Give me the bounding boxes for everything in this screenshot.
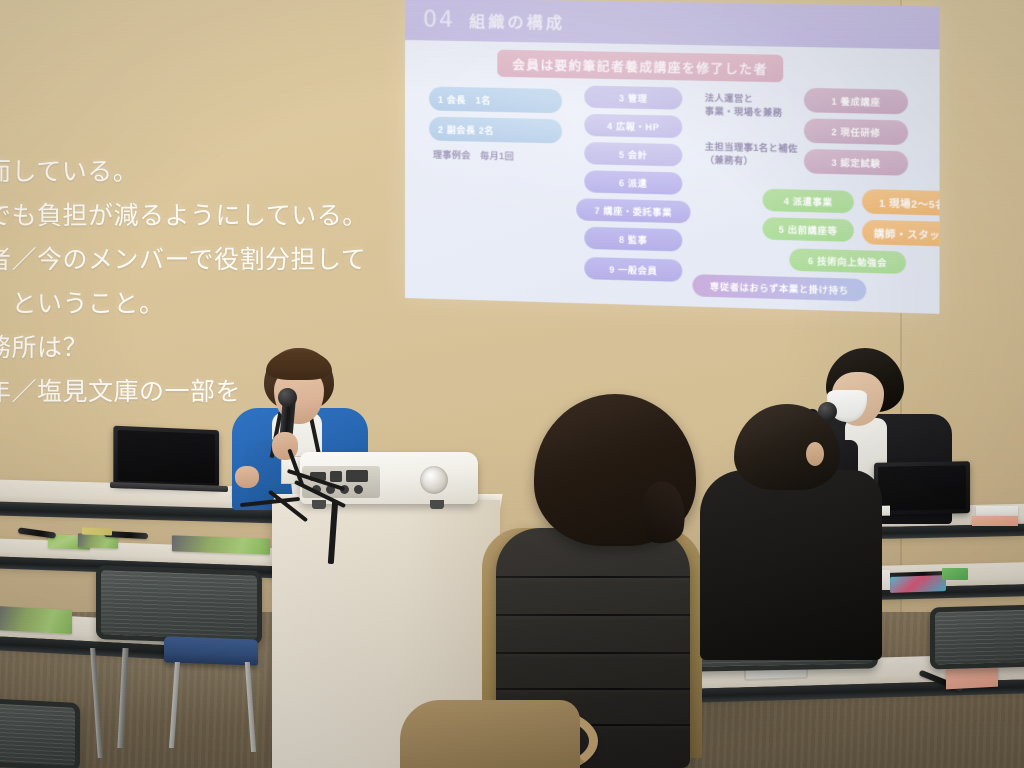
pill-green-1: 4 派遣事業 [763, 189, 854, 214]
audience-partial-shoulder [400, 700, 580, 768]
pill-orange-2: 講師・スタッフ派遣 [862, 220, 939, 248]
pill-left-1: 1 会長 1名 [429, 86, 562, 113]
pill-mid-6: 8 監事 [584, 227, 682, 252]
screenshot-root: 而している。 でも負担が減るようにしている。 者／今のメンバーで役割分担して 、… [0, 0, 1024, 768]
presenter-other-hand [235, 466, 259, 488]
presenter-laptop-screen-bezel [117, 430, 215, 483]
leaflet-3 [172, 535, 270, 554]
leaflet-4 [0, 606, 72, 634]
pill-right-1: 1 養成講座 [804, 88, 908, 115]
vest-quilt-line-3 [496, 652, 690, 654]
pill-green-2: 5 出前講座等 [763, 217, 854, 242]
chair-mesh-left-2 [0, 702, 75, 766]
pill-mid-7: 9 一般会員 [584, 257, 682, 282]
slide-number: 04 [423, 7, 455, 33]
chair-back-left-2[interactable] [0, 697, 80, 768]
chair-mesh-left-1 [101, 570, 257, 639]
audience-black-jacket [700, 470, 882, 660]
pink-notepad [946, 667, 998, 690]
pill-right-2: 2 現任研修 [804, 118, 908, 145]
note-operations: 法人運営と 事業・現場を兼務 [705, 92, 783, 120]
panelist-laptop-screen-bezel [878, 465, 966, 511]
projector-port-audio-4 [354, 485, 363, 494]
pill-mid-5: 7 講座・委託事業 [576, 198, 690, 223]
slide-surface: 04 組織の構成 会員は要約筆記者養成講座を修了した者 1 会長 1名 2 副会… [405, 0, 940, 314]
green-tag [942, 568, 968, 580]
pill-mid-3: 5 会計 [584, 142, 682, 166]
panelist-pink-slip [972, 516, 1018, 526]
pill-green-3: 6 技術向上勉強会 [789, 248, 906, 274]
audience-ear [806, 442, 824, 466]
microphone-left-head [278, 388, 297, 407]
vest-quilt-line-1 [496, 576, 690, 578]
projected-slide: 04 組織の構成 会員は要約筆記者養成講座を修了した者 1 会長 1名 2 副会… [405, 0, 940, 314]
presenter-hand-holding-mic [272, 432, 298, 460]
slide-header: 04 組織の構成 [405, 0, 940, 49]
pill-right-3: 3 認定試験 [804, 149, 908, 176]
pill-mid-2: 4 広報・HP [584, 114, 682, 138]
pill-left-2: 2 副会長 2名 [429, 117, 562, 144]
chair-back-left-1[interactable] [96, 565, 262, 645]
caption-line-4: 、ということ。 [0, 282, 366, 326]
chair-back-right[interactable] [930, 605, 1024, 670]
projector-foot-right [430, 500, 444, 509]
projector-foot-left [312, 500, 326, 509]
pill-bottom: 専従者はおらず本業と掛け持ち [693, 274, 867, 301]
presenter-laptop[interactable] [113, 426, 219, 488]
projector-port-usb [330, 471, 342, 482]
caption-line-2: でも負担が減るようにしている。 [0, 194, 366, 238]
slide-banner: 会員は要約筆記者養成講座を修了した者 [497, 50, 783, 83]
note-director: 主担当理事1名と補佐 （兼務有） [705, 141, 798, 170]
vest-quilt-line-4 [496, 688, 690, 690]
pill-orange-1: 1 現場2〜5名派遣 [862, 189, 939, 217]
pill-mid-1: 3 管理 [584, 86, 682, 110]
yellow-tag [82, 527, 112, 535]
chair-mesh-right [935, 610, 1024, 665]
slide-title: 組織の構成 [469, 8, 565, 34]
vest-quilt-line-2 [496, 614, 690, 616]
cyan-card [890, 575, 946, 593]
caption-line-3: 者／今のメンバーで役割分担して [0, 238, 366, 282]
projector-lens [420, 466, 448, 494]
caption-line-1: 而している。 [0, 150, 366, 194]
note-board-meeting: 理事例会 毎月1回 [433, 149, 514, 164]
pill-mid-4: 6 派遣 [584, 170, 682, 195]
projector-port-vga [346, 470, 368, 482]
panelist-booklet [976, 506, 1018, 516]
